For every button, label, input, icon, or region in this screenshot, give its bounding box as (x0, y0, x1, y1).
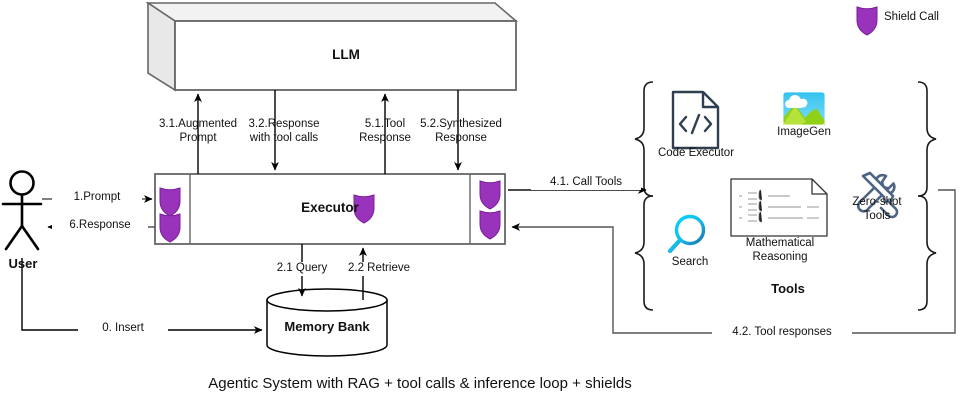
edge-label-42-tool-responses: 4.2. Tool responses (712, 326, 852, 340)
memory-bank-label: Memory Bank (277, 320, 377, 334)
user-label: User (0, 257, 46, 271)
edge-label-52-line2: Response (405, 132, 517, 146)
edge-label-22-retrieve: 2.2 Retrieve (334, 262, 424, 276)
diagram-vector-layer (0, 0, 970, 411)
tool-label-zeroshot-line1: Zero-shot (838, 196, 916, 210)
tool-label-math-line1: Mathematical (733, 237, 827, 251)
edge-label-32-line2: with tool calls (229, 132, 339, 146)
tools-group-label: Tools (738, 282, 838, 296)
executor-label: Executor (280, 201, 380, 215)
code-executor-icon[interactable] (673, 92, 718, 148)
edge-label-21-query: 2.1 Query (264, 262, 340, 276)
tool-label-image-gen: ImageGen (764, 126, 844, 140)
user-actor[interactable] (3, 172, 41, 250)
llm-label: LLM (296, 48, 396, 62)
edge-0-insert (22, 258, 262, 330)
edge-label-32-line1: 3.2.Response (229, 118, 339, 132)
tool-label-code-executor: Code Executor (645, 147, 747, 161)
math-document-icon[interactable] (731, 179, 827, 236)
edge-label-52-line1: 5.2.Synthesized (405, 118, 517, 132)
edge-label-6-response: 6.Response (52, 219, 148, 233)
search-icon[interactable] (670, 217, 704, 252)
tool-label-zeroshot-line2: Tools (838, 210, 916, 224)
tool-label-search: Search (659, 256, 721, 270)
edge-label-41-call-tools: 4.1. Call Tools (531, 176, 641, 190)
legend-shield-label: Shield Call (884, 11, 970, 25)
edge-label-1-prompt: 1.Prompt (52, 191, 142, 205)
edge-label-0-insert: 0. Insert (78, 322, 168, 336)
tool-label-math-line2: Reasoning (733, 251, 827, 265)
shield-icon-legend (857, 7, 877, 35)
diagram-canvas: LLM Executor Memory Bank User Tools Code… (0, 0, 970, 411)
image-gen-icon[interactable] (783, 92, 825, 125)
diagram-caption: Agentic System with RAG + tool calls & i… (0, 375, 840, 392)
